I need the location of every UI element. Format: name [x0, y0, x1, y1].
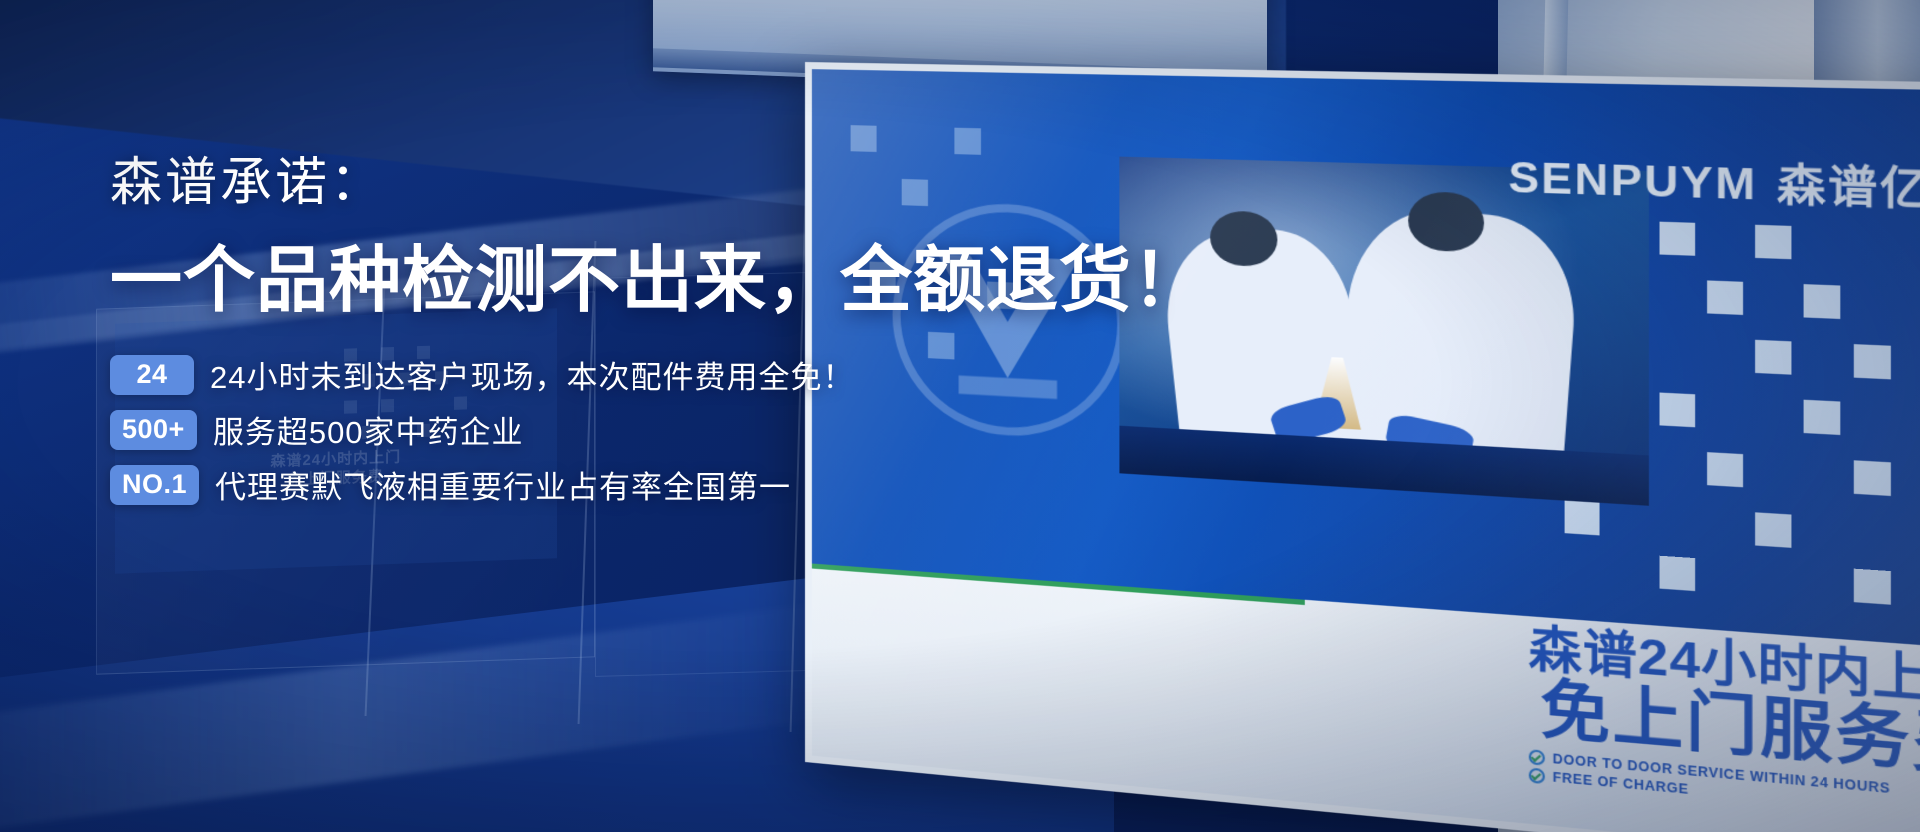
billboard-logo-latin: SENPUYM [1508, 154, 1757, 210]
poster-canvas: 森谱24小时内上门 免上门服务费 [0, 0, 1920, 832]
bullet-text: 服务超500家中药企业 [213, 407, 524, 452]
status-badge: 500+ [110, 410, 197, 450]
hero-copy: 森谱承诺： 一个品种检测不出来，全额退货！ 24 24小时未到达客户现场，本次配… [110, 140, 1170, 517]
check-circle-icon [1529, 768, 1545, 785]
check-circle-icon [1529, 749, 1545, 766]
bullet-text: 24小时未到达客户现场，本次配件费用全免！ [210, 352, 854, 397]
list-item: 500+ 服务超500家中药企业 [110, 407, 1170, 452]
scientist-head [1409, 191, 1484, 253]
list-item: NO.1 代理赛默飞液相重要行业占有率全国第一 [110, 462, 1170, 507]
billboard-logo-chinese: 森谱亿铭 [1777, 149, 1920, 220]
list-item: 24 24小时未到达客户现场，本次配件费用全免！ [110, 352, 1170, 397]
hero-headline: 一个品种检测不出来，全额退货！ [110, 221, 1170, 326]
billboard-message: 森谱24小时内上门 免上门服务费 DOOR TO DOOR SERVICE WI… [1529, 623, 1920, 825]
status-badge: NO.1 [110, 465, 199, 505]
bullet-text: 代理赛默飞液相重要行业占有率全国第一 [215, 462, 791, 507]
hero-kicker: 森谱承诺： [110, 140, 1170, 215]
lab-scientists-photo [1120, 157, 1649, 506]
status-badge: 24 [110, 355, 194, 395]
hero-bullet-list: 24 24小时未到达客户现场，本次配件费用全免！ 500+ 服务超500家中药企… [110, 352, 1170, 507]
